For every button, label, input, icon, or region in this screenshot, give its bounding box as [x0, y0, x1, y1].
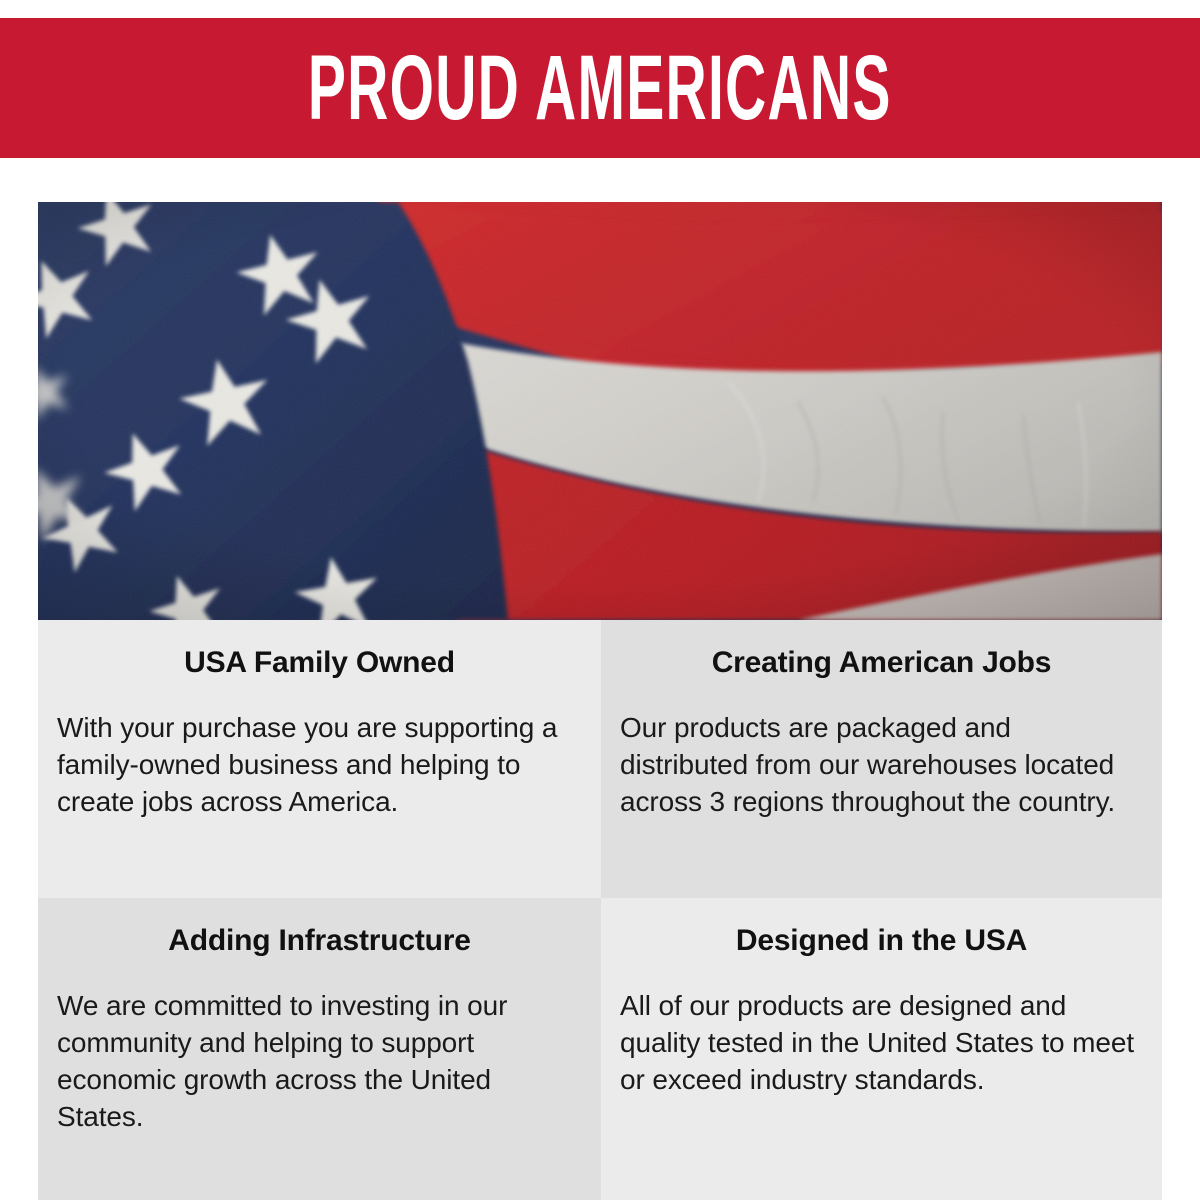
card-body: We are committed to investing in our com… [57, 987, 582, 1136]
card-heading: Creating American Jobs [620, 646, 1143, 681]
card-creating-american-jobs: Creating American Jobs Our products are … [601, 620, 1162, 898]
card-designed-in-the-usa: Designed in the USA All of our products … [601, 898, 1162, 1200]
card-body: Our products are packaged and distribute… [620, 709, 1143, 821]
card-heading: USA Family Owned [57, 646, 582, 681]
page-title: PROUD AMERICANS [308, 42, 892, 134]
proud-americans-infographic: PROUD AMERICANS [0, 0, 1200, 1200]
card-body: With your purchase you are supporting a … [57, 709, 582, 821]
card-adding-infrastructure: Adding Infrastructure We are committed t… [38, 898, 601, 1200]
header-banner: PROUD AMERICANS [0, 18, 1200, 158]
card-usa-family-owned: USA Family Owned With your purchase you … [38, 620, 601, 898]
benefits-card-grid: USA Family Owned With your purchase you … [38, 620, 1162, 1200]
card-heading: Designed in the USA [620, 924, 1143, 959]
card-heading: Adding Infrastructure [57, 924, 582, 959]
card-body: All of our products are designed and qua… [620, 987, 1143, 1099]
american-flag-photo [38, 202, 1162, 620]
